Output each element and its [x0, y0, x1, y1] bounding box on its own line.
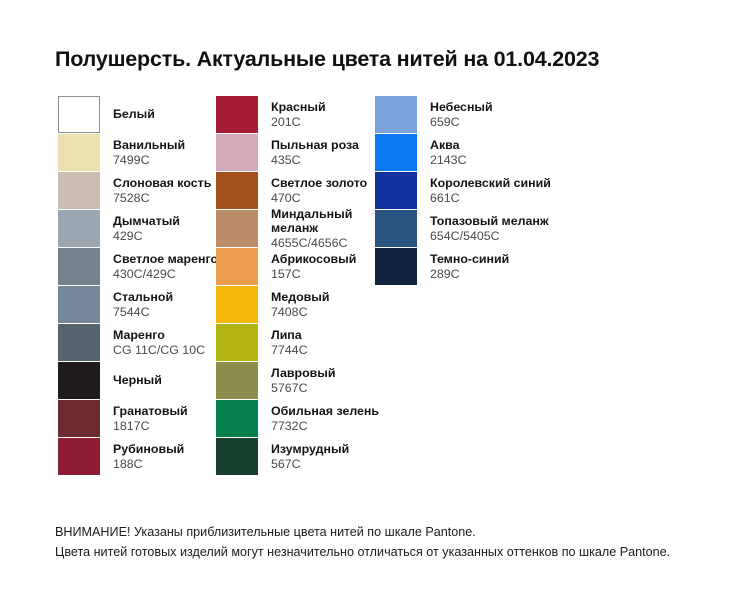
- color-swatch[interactable]: [375, 134, 417, 171]
- color-swatch[interactable]: [58, 210, 100, 247]
- swatch-name: Ванильный: [113, 138, 185, 153]
- swatch-name: Изумрудный: [271, 442, 349, 457]
- color-swatch[interactable]: [375, 248, 417, 285]
- color-swatch[interactable]: [375, 172, 417, 209]
- swatch-pantone-code: 661C: [430, 191, 551, 206]
- swatch-labels: Абрикосовый157C: [271, 248, 356, 285]
- swatch-name: Аква: [430, 138, 467, 153]
- color-swatch[interactable]: [58, 324, 100, 361]
- disclaimer-footer: ВНИМАНИЕ! Указаны приблизительные цвета …: [55, 523, 670, 562]
- swatch-labels: Ванильный7499C: [113, 134, 185, 171]
- color-swatch[interactable]: [58, 248, 100, 285]
- swatch-pantone-code: 289C: [430, 267, 509, 282]
- swatch-labels: Королевский синий661C: [430, 172, 551, 209]
- swatch-name: Гранатовый: [113, 404, 188, 419]
- swatch-name: Небесный: [430, 100, 493, 115]
- color-swatch[interactable]: [216, 248, 258, 285]
- swatch-pantone-code: 429C: [113, 229, 180, 244]
- swatch-pantone-code: 7732C: [271, 419, 379, 434]
- color-swatch[interactable]: [216, 210, 258, 247]
- swatch-pantone-code: 1817C: [113, 419, 188, 434]
- swatch-pantone-code: 7528C: [113, 191, 211, 206]
- swatch-pantone-code: 157C: [271, 267, 356, 282]
- swatch-pantone-code: 654C/5405C: [430, 229, 549, 244]
- swatch-labels: Липа7744C: [271, 324, 308, 361]
- swatch-labels: Белый: [113, 96, 155, 133]
- swatch-name: Черный: [113, 373, 162, 388]
- swatch-pantone-code: 435C: [271, 153, 359, 168]
- swatch-name: Красный: [271, 100, 326, 115]
- swatch-pantone-code: 5767C: [271, 381, 335, 396]
- swatch-labels: Темно-синий289C: [430, 248, 509, 285]
- color-swatch[interactable]: [58, 286, 100, 323]
- swatch-labels: Аква2143C: [430, 134, 467, 171]
- swatch-name: Стальной: [113, 290, 173, 305]
- swatch-name-cont: меланж: [271, 221, 352, 236]
- swatch-labels: Лавровый5767C: [271, 362, 335, 399]
- disclaimer-line-1: ВНИМАНИЕ! Указаны приблизительные цвета …: [55, 523, 670, 543]
- swatch-name: Лавровый: [271, 366, 335, 381]
- swatch-pantone-code: 7744C: [271, 343, 308, 358]
- color-swatch[interactable]: [216, 134, 258, 171]
- swatch-labels: Небесный659C: [430, 96, 493, 133]
- swatch-name: Слоновая кость: [113, 176, 211, 191]
- swatch-pantone-code: 659C: [430, 115, 493, 130]
- color-swatch[interactable]: [216, 324, 258, 361]
- swatch-labels: Стальной7544C: [113, 286, 173, 323]
- swatch-name: Темно-синий: [430, 252, 509, 267]
- swatch-pantone-code: 470C: [271, 191, 367, 206]
- color-swatch[interactable]: [58, 400, 100, 437]
- swatch-labels: Изумрудный567C: [271, 438, 349, 475]
- swatch-labels: Красный201C: [271, 96, 326, 133]
- swatch-pantone-code: 188C: [113, 457, 184, 472]
- swatch-pantone-code: 7408C: [271, 305, 329, 320]
- swatch-labels: Дымчатый429C: [113, 210, 180, 247]
- swatch-name: Медовый: [271, 290, 329, 305]
- swatch-labels: Пыльная роза435C: [271, 134, 359, 171]
- swatch-pantone-code: 430C/429C: [113, 267, 218, 282]
- swatch-name: Маренго: [113, 328, 205, 343]
- swatch-labels: Светлое золото470C: [271, 172, 367, 209]
- swatch-pantone-code: 7499C: [113, 153, 185, 168]
- swatch-row[interactable]: Медовый7408C: [216, 286, 516, 323]
- swatch-name: Абрикосовый: [271, 252, 356, 267]
- swatch-pantone-code: 567C: [271, 457, 349, 472]
- swatch-labels: Обильная зелень7732C: [271, 400, 379, 437]
- swatch-row[interactable]: Аква2143C: [375, 134, 675, 171]
- swatch-labels: Слоновая кость7528C: [113, 172, 211, 209]
- swatch-pantone-code: 2143C: [430, 153, 467, 168]
- swatch-labels: Топазовый меланж654C/5405C: [430, 210, 549, 247]
- swatch-name: Топазовый меланж: [430, 214, 549, 229]
- swatch-row[interactable]: Королевский синий661C: [375, 172, 675, 209]
- color-swatch[interactable]: [58, 172, 100, 209]
- swatch-labels: Гранатовый1817C: [113, 400, 188, 437]
- swatch-pantone-code: 7544C: [113, 305, 173, 320]
- color-swatch[interactable]: [375, 96, 417, 133]
- swatch-row[interactable]: Топазовый меланж654C/5405C: [375, 210, 675, 247]
- color-swatch[interactable]: [58, 134, 100, 171]
- color-swatch[interactable]: [58, 438, 100, 475]
- swatch-labels: Медовый7408C: [271, 286, 329, 323]
- swatch-name: Дымчатый: [113, 214, 180, 229]
- color-swatch[interactable]: [216, 362, 258, 399]
- color-swatch[interactable]: [375, 210, 417, 247]
- color-chart-page: Полушерсть. Актуальные цвета нитей на 01…: [0, 0, 750, 601]
- swatch-name: Светлое маренго: [113, 252, 218, 267]
- swatch-row[interactable]: Изумрудный567C: [216, 438, 516, 475]
- swatch-pantone-code: 201C: [271, 115, 326, 130]
- swatch-name: Липа: [271, 328, 308, 343]
- color-swatch[interactable]: [216, 96, 258, 133]
- swatch-name: Светлое золото: [271, 176, 367, 191]
- swatch-labels: МаренгоCG 11C/CG 10C: [113, 324, 205, 361]
- swatch-name: Миндальный: [271, 207, 352, 222]
- swatch-name: Пыльная роза: [271, 138, 359, 153]
- swatch-name: Рубиновый: [113, 442, 184, 457]
- swatch-name: Королевский синий: [430, 176, 551, 191]
- swatch-row[interactable]: Обильная зелень7732C: [216, 400, 516, 437]
- swatch-labels: Миндальныймеланж4655C/4656C: [271, 210, 352, 247]
- color-swatch[interactable]: [216, 438, 258, 475]
- swatch-labels: Рубиновый188C: [113, 438, 184, 475]
- swatch-name: Белый: [113, 107, 155, 122]
- color-swatch[interactable]: [58, 362, 100, 399]
- color-swatch[interactable]: [216, 400, 258, 437]
- swatch-labels: Черный: [113, 362, 162, 399]
- swatch-row[interactable]: Лавровый5767C: [216, 362, 516, 399]
- swatch-pantone-code: CG 11C/CG 10C: [113, 343, 205, 358]
- color-swatch[interactable]: [216, 286, 258, 323]
- color-swatch[interactable]: [216, 172, 258, 209]
- swatch-row[interactable]: Темно-синий289C: [375, 248, 675, 285]
- swatch-name: Обильная зелень: [271, 404, 379, 419]
- color-swatch[interactable]: [58, 96, 100, 133]
- swatch-row[interactable]: Небесный659C: [375, 96, 675, 133]
- page-title: Полушерсть. Актуальные цвета нитей на 01…: [55, 47, 599, 72]
- swatch-labels: Светлое маренго430C/429C: [113, 248, 218, 285]
- swatch-row[interactable]: Липа7744C: [216, 324, 516, 361]
- disclaimer-line-2: Цвета нитей готовых изделий могут незнач…: [55, 543, 670, 563]
